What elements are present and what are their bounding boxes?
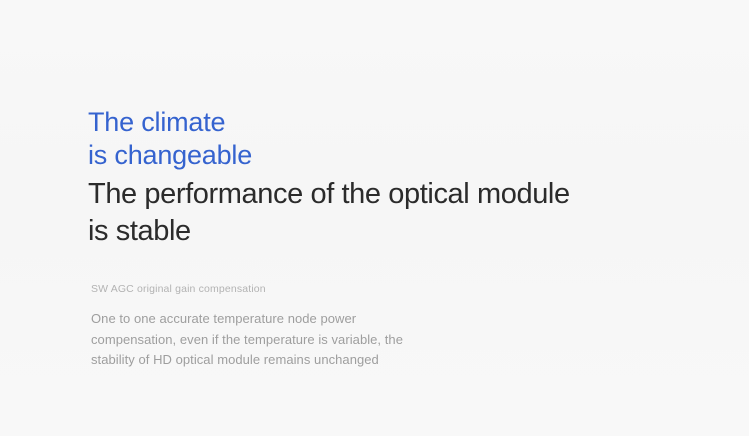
slide-canvas: The climate is changeable The performanc…	[0, 0, 749, 436]
headline-group: The climate is changeable The performanc…	[88, 106, 688, 250]
feature-caption: SW AGC original gain compensation	[91, 282, 266, 296]
headline-main: The performance of the optical module is…	[88, 172, 688, 250]
feature-description: One to one accurate temperature node pow…	[91, 309, 511, 371]
headline-accent: The climate is changeable	[88, 106, 688, 172]
